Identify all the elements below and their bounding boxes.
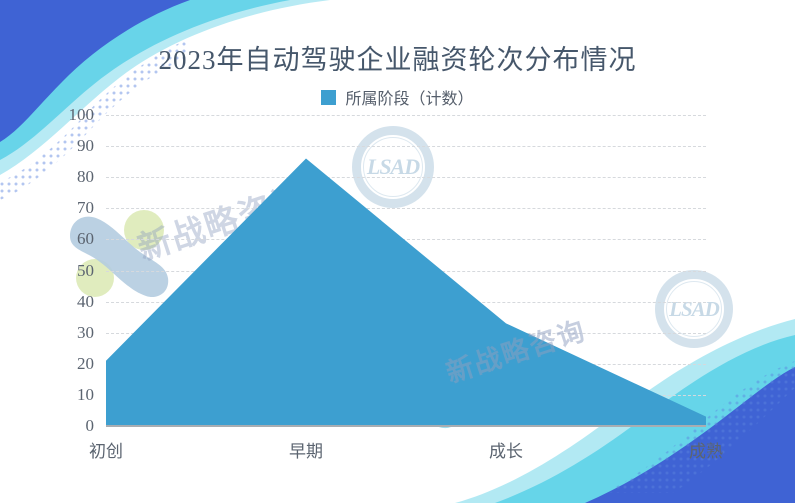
x-axis-tick-label: 早期: [289, 437, 323, 462]
y-axis-tick-label: 80: [4, 167, 94, 187]
x-axis-baseline: [106, 425, 706, 427]
legend-swatch-icon: [321, 90, 336, 105]
y-axis-tick-label: 70: [4, 198, 94, 218]
y-axis-tick-label: 10: [4, 385, 94, 405]
area-path: [106, 159, 706, 426]
area-series: [106, 115, 706, 426]
y-axis-tick-label: 50: [4, 261, 94, 281]
y-axis-tick-label: 30: [4, 323, 94, 343]
x-axis-tick-label: 成长: [489, 437, 523, 462]
x-axis-tick-label: 成熟: [689, 437, 723, 462]
chart-legend: 所属阶段（计数）: [0, 85, 795, 109]
y-axis-tick-label: 90: [4, 136, 94, 156]
y-axis-tick-label: 40: [4, 292, 94, 312]
y-axis-tick-label: 20: [4, 354, 94, 374]
plot-area: 0102030405060708090100 初创早期成长成熟: [106, 115, 706, 426]
y-axis-tick-label: 0: [4, 416, 94, 436]
x-axis-tick-label: 初创: [89, 437, 123, 462]
chart-canvas: LSAD LSAD 新战略咨询 新战略咨询 2023年自动驾驶企业融资轮次分布情…: [0, 0, 795, 503]
y-axis-tick-label: 60: [4, 229, 94, 249]
chart-title: 2023年自动驾驶企业融资轮次分布情况: [0, 38, 795, 77]
legend-label: 所属阶段（计数）: [345, 85, 473, 109]
y-axis-tick-label: 100: [4, 105, 94, 125]
